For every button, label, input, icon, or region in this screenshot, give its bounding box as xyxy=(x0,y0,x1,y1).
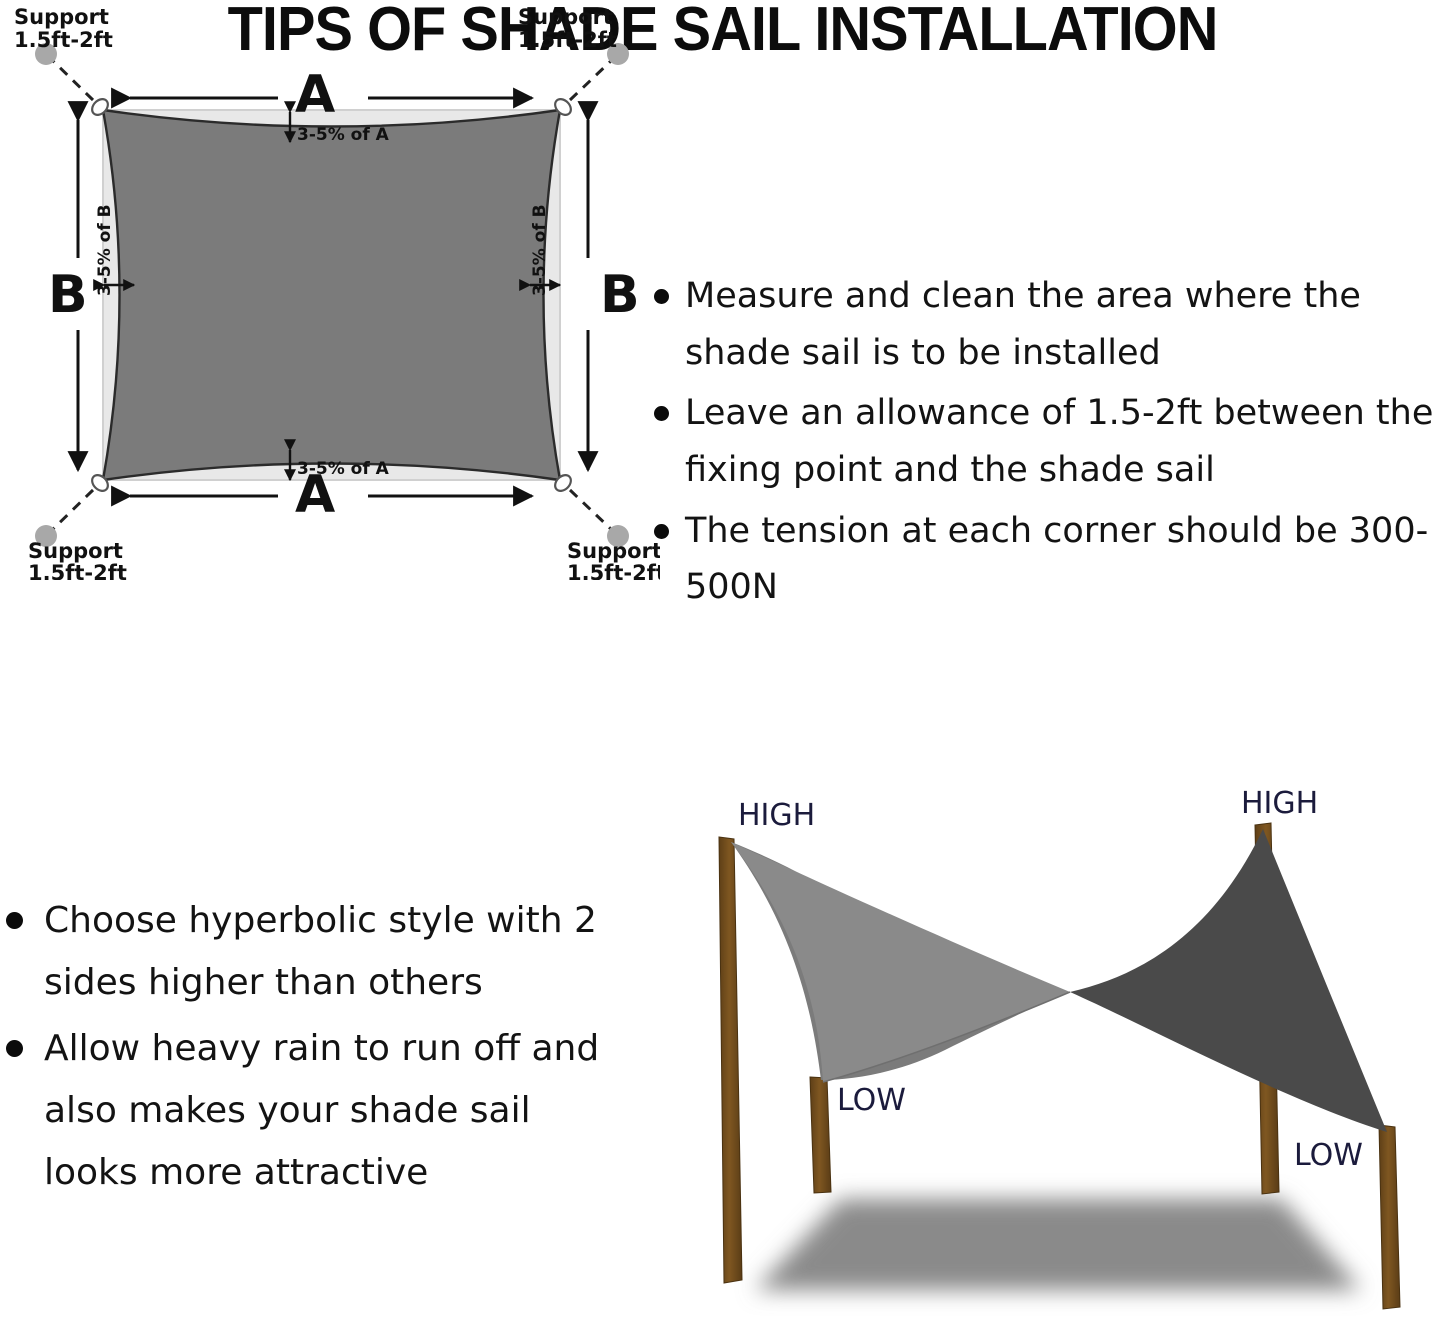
installation-tips-panel: Measure and clean the area where the sha… xyxy=(645,268,1445,620)
hyperbolic-tips-panel: Choose hyperbolic style with 2 sides hig… xyxy=(0,890,620,1208)
support-label-line2: 1.5ft-2ft xyxy=(518,28,617,52)
dimension-b-left: B xyxy=(48,120,88,470)
list-item: The tension at each corner should be 300… xyxy=(645,503,1445,616)
pole-high-left xyxy=(719,837,742,1283)
sail-panel-dark xyxy=(1070,829,1387,1132)
installation-tips-list: Measure and clean the area where the sha… xyxy=(645,268,1445,616)
support-label-line2: 1.5ft-2ft xyxy=(14,28,113,52)
curve-depth-label: 3-5% of A xyxy=(297,459,390,479)
dimension-b-right: B xyxy=(588,120,640,470)
label-low-right: LOW xyxy=(1294,1138,1363,1173)
support-label-line1: Support xyxy=(14,5,109,29)
support-label-line2: 1.5ft-2ft xyxy=(28,561,127,580)
support-label-top-right: Support 1.5ft-2ft xyxy=(518,5,617,52)
list-item: Allow heavy rain to run off and also mak… xyxy=(0,1018,620,1204)
dimension-a-label: A xyxy=(295,65,335,125)
list-item: Leave an allowance of 1.5-2ft between th… xyxy=(645,385,1445,498)
pole-low-right xyxy=(1379,1125,1400,1309)
support-label-line1: Support xyxy=(28,539,123,563)
list-item: Choose hyperbolic style with 2 sides hig… xyxy=(0,890,620,1014)
hyperbolic-sail-diagram: HIGH HIGH LOW LOW xyxy=(645,780,1445,1319)
support-label-top-left: Support 1.5ft-2ft xyxy=(14,5,113,52)
label-high-right: HIGH xyxy=(1241,786,1318,821)
hyperbolic-tips-list: Choose hyperbolic style with 2 sides hig… xyxy=(0,890,620,1204)
support-label-bottom-left: Support 1.5ft-2ft xyxy=(28,539,127,580)
sail-panel-light xyxy=(731,842,1070,1082)
ground-shadow xyxy=(755,1199,1361,1290)
curve-depth-label: 3-5% of B xyxy=(530,204,550,296)
dimension-b-label: B xyxy=(48,265,88,325)
pole-low-left xyxy=(810,1077,831,1193)
curve-depth-label: 3-5% of A xyxy=(297,125,390,145)
label-low-left: LOW xyxy=(837,1083,906,1118)
label-high-left: HIGH xyxy=(738,798,815,833)
list-item: Measure and clean the area where the sha… xyxy=(645,268,1445,381)
curve-depth-label: 3-5% of B xyxy=(95,204,115,296)
shade-sail-body xyxy=(103,110,560,480)
rectangular-sail-diagram: Support 1.5ft-2ft Support 1.5ft-2ft Supp… xyxy=(0,0,660,580)
dimension-b-label: B xyxy=(600,265,640,325)
support-label-line1: Support xyxy=(518,5,613,29)
